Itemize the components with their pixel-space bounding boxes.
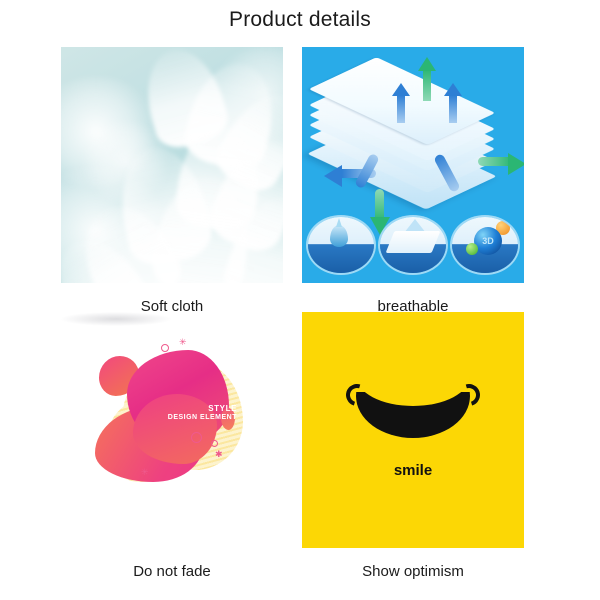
three-d-orb-inset: 3D [452, 217, 518, 273]
breathable-inset-row: 3D [308, 217, 518, 273]
product-detail-cell-breathable: 3D breathable [302, 47, 524, 317]
product-details-grid: Soft cloth [61, 47, 540, 551]
soft-cloth-feathers-photo [61, 47, 283, 283]
caption-do-not-fade: Do not fade [61, 562, 283, 582]
page-title: Product details [0, 8, 600, 32]
fabric-layer-stack [318, 57, 508, 197]
product-detail-cell-do-not-fade: ✳ ✳ ✱ STYLE DESIGN ELEMENT Do not fade [61, 312, 283, 582]
blob-drop-shadow [61, 312, 171, 326]
layer-bubbles-inset [380, 217, 446, 273]
accent-asterisk-icon: ✳ [141, 468, 149, 477]
blob-overlay-subtitle: DESIGN ELEMENT [153, 414, 237, 423]
product-detail-cell-show-optimism: smile Show optimism [302, 312, 524, 582]
water-droplet-icon [330, 225, 348, 247]
breathable-fabric-layers-diagram: 3D [302, 47, 524, 283]
fabric-stack-icon [386, 231, 441, 253]
accent-ring-icon [191, 432, 202, 443]
smile-word: smile [302, 462, 524, 479]
abstract-gradient-blob-graphic: ✳ ✳ ✱ STYLE DESIGN ELEMENT [61, 312, 283, 548]
smile-mouth-icon [348, 392, 478, 454]
caption-show-optimism: Show optimism [302, 562, 524, 582]
accent-ring-icon [211, 440, 218, 447]
blob-overlay-title: STYLE [153, 404, 237, 414]
green-sphere-icon [466, 243, 478, 255]
water-droplet-inset [308, 217, 374, 273]
airflow-arrow-right-green-head-icon [508, 153, 524, 175]
three-d-orb-icon: 3D [474, 227, 502, 255]
accent-ring-icon [161, 344, 169, 352]
airflow-arrow-right-green-icon [478, 157, 512, 166]
accent-asterisk-icon: ✳ [179, 338, 187, 347]
airflow-arrow-left-blue-head-icon [324, 165, 342, 187]
accent-asterisk-icon: ✱ [215, 450, 223, 459]
smile-graphic: smile [302, 312, 524, 548]
blob-overlay-text: STYLE DESIGN ELEMENT [153, 404, 237, 423]
product-detail-cell-soft-cloth: Soft cloth [61, 47, 283, 317]
